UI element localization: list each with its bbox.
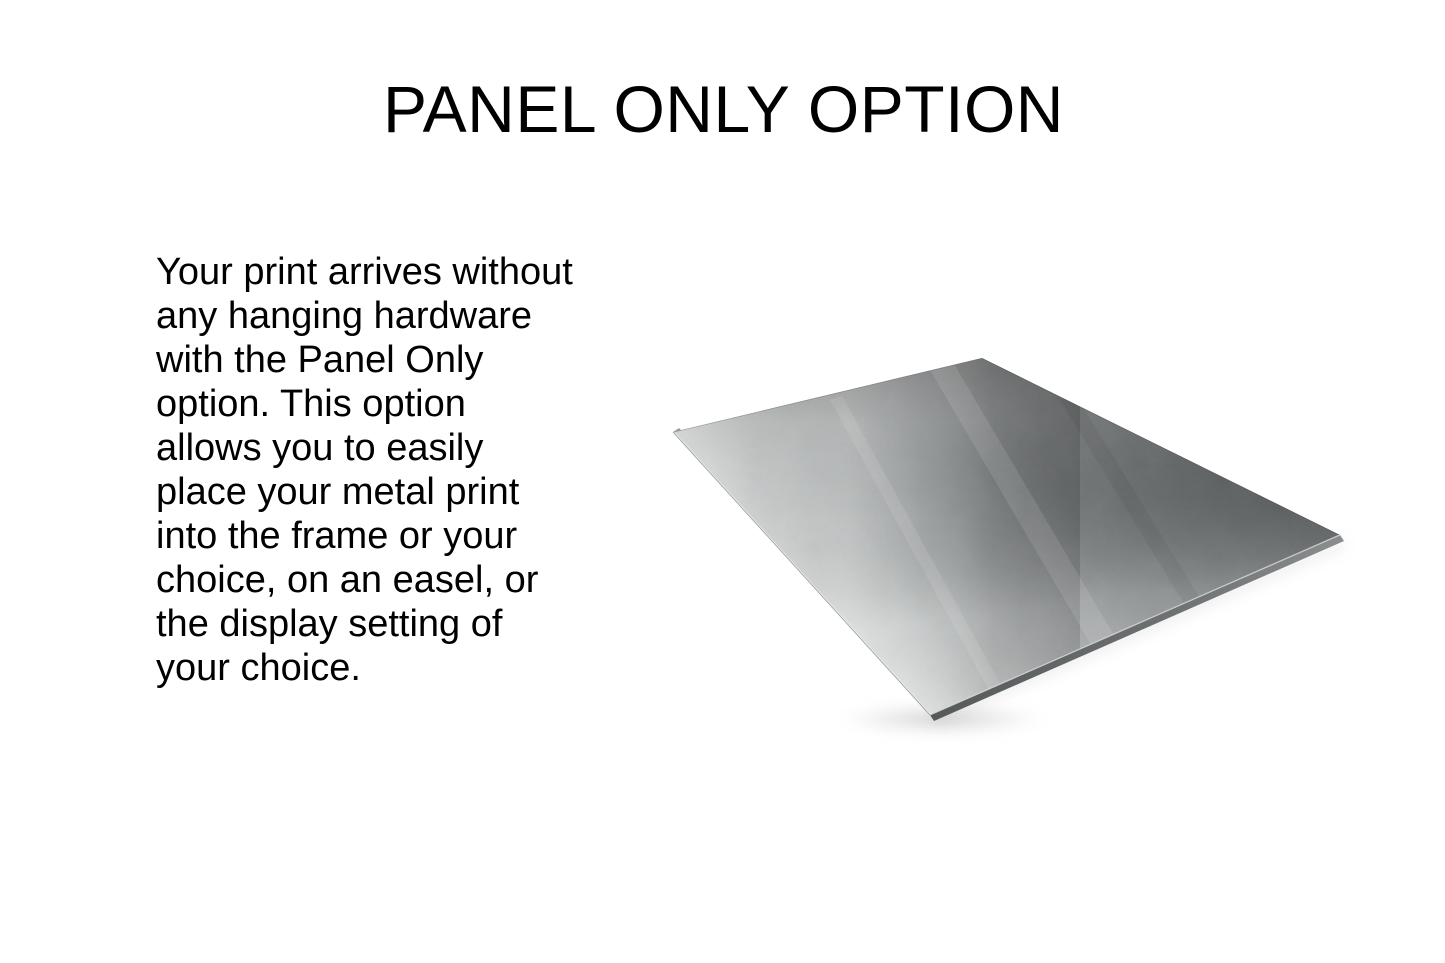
slide-canvas: PANEL ONLY OPTION Your print arrives wit… [0, 0, 1445, 963]
metal-panel-illustration [630, 330, 1370, 750]
body-text-block: Your print arrives without any hanging h… [156, 250, 576, 690]
page-title: PANEL ONLY OPTION [0, 76, 1445, 142]
body-paragraph: Your print arrives without any hanging h… [156, 250, 576, 690]
page-title-text: PANEL ONLY OPTION [383, 76, 1064, 142]
metal-panel-image [630, 330, 1370, 750]
